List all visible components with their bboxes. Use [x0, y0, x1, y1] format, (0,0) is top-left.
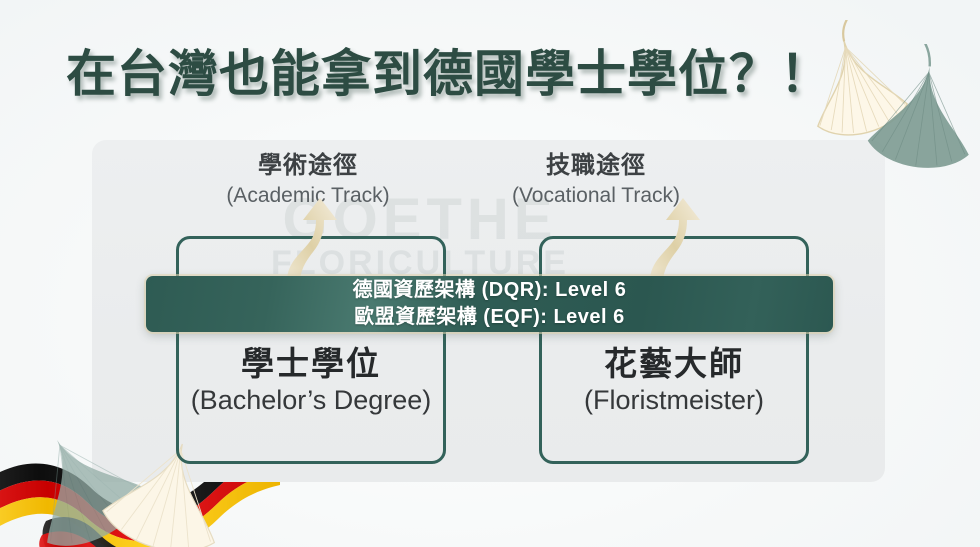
card-floristmeister-zh: 花藝大師: [542, 345, 806, 383]
card-floristmeister: 花藝大師 (Floristmeister): [539, 236, 809, 464]
track-heading-vocational-en: (Vocational Track): [446, 184, 746, 208]
card-bachelor-degree: 學士學位 (Bachelor’s Degree): [176, 236, 446, 464]
track-heading-academic-zh: 學術途徑: [158, 145, 458, 180]
card-bachelor-zh: 學士學位: [179, 345, 443, 383]
card-floristmeister-label: 花藝大師 (Floristmeister): [542, 345, 806, 416]
track-heading-vocational: 技職途徑 (Vocational Track): [446, 145, 746, 208]
banner-line-dqr: 德國資歷架構 (DQR): Level 6: [353, 277, 627, 304]
track-heading-academic: 學術途徑 (Academic Track): [158, 145, 458, 208]
card-floristmeister-en: (Floristmeister): [542, 385, 806, 416]
track-heading-academic-en: (Academic Track): [158, 184, 458, 208]
slide-canvas: GOETHE FLORICULTURE 在台灣也能拿到德國學士學位？！ 學術途徑…: [0, 0, 980, 547]
qualification-banner: 德國資歷架構 (DQR): Level 6 歐盟資歷架構 (EQF): Leve…: [146, 276, 833, 332]
card-bachelor-en: (Bachelor’s Degree): [179, 385, 443, 416]
banner-line-eqf: 歐盟資歷架構 (EQF): Level 6: [354, 304, 625, 331]
card-bachelor-label: 學士學位 (Bachelor’s Degree): [179, 345, 443, 416]
track-heading-vocational-zh: 技職途徑: [446, 145, 746, 180]
page-title: 在台灣也能拿到德國學士學位？！: [66, 34, 831, 106]
